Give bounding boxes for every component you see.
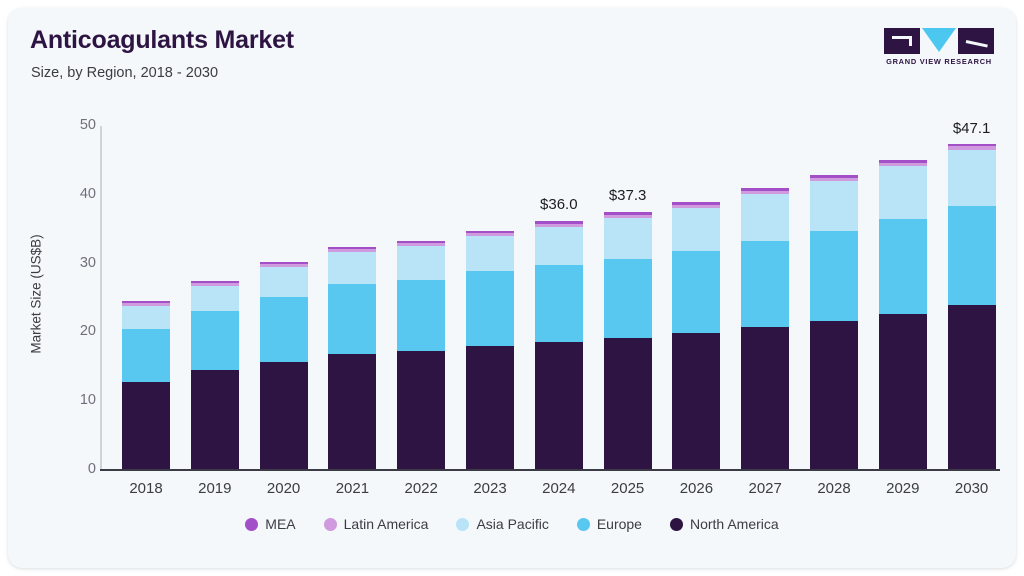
legend-item[interactable]: North America: [670, 516, 779, 532]
bar-stack: [948, 144, 996, 469]
x-axis-tick-label: 2024: [535, 480, 583, 497]
bar-segment[interactable]: [604, 338, 652, 469]
gvr-logo-icon: [884, 28, 994, 54]
page-title: Anticoagulants Market: [30, 26, 294, 55]
x-axis-tick-label: 2018: [122, 480, 170, 497]
logo-triangle-icon: [922, 28, 956, 52]
y-axis-line: [100, 126, 102, 470]
legend-label: MEA: [265, 516, 295, 532]
bar-segment[interactable]: [535, 342, 583, 469]
legend-label: Asia Pacific: [476, 516, 548, 532]
legend-color-swatch: [324, 518, 337, 531]
bar-stack: [191, 281, 239, 469]
legend-item[interactable]: Asia Pacific: [456, 516, 548, 532]
legend-label: Latin America: [344, 516, 429, 532]
bar-stack: [672, 202, 720, 469]
bar-group[interactable]: [810, 175, 858, 469]
bar-segment[interactable]: [122, 306, 170, 329]
bar-segment[interactable]: [810, 321, 858, 469]
x-axis-tick-label: 2022: [397, 480, 445, 497]
chart-card: Anticoagulants Market Size, by Region, 2…: [8, 8, 1016, 568]
bar-segment[interactable]: [810, 181, 858, 231]
bar-group[interactable]: [397, 241, 445, 469]
y-axis-tick-label: 10: [56, 392, 96, 408]
bar-stack: [810, 175, 858, 469]
bar-value-label: $37.3: [609, 187, 647, 204]
bar-segment[interactable]: [879, 219, 927, 313]
bar-segment[interactable]: [260, 362, 308, 469]
logo-right-block: [958, 28, 994, 54]
bar-segment[interactable]: [879, 314, 927, 469]
logo-left-block: [884, 28, 920, 54]
bar-stack: [535, 221, 583, 469]
bar-segment[interactable]: [604, 218, 652, 259]
bar-segment[interactable]: [535, 227, 583, 266]
bar-segment[interactable]: [535, 265, 583, 341]
x-axis-tick-label: 2030: [948, 480, 996, 497]
legend-item[interactable]: MEA: [245, 516, 295, 532]
bar-segment[interactable]: [948, 305, 996, 469]
x-axis-tick-label: 2023: [466, 480, 514, 497]
bar-stack: [397, 241, 445, 469]
bar-segment[interactable]: [879, 166, 927, 219]
bar-group[interactable]: [328, 247, 376, 469]
bar-stack: [879, 160, 927, 469]
bar-group[interactable]: [466, 231, 514, 469]
bar-segment[interactable]: [191, 311, 239, 370]
x-axis-line: [100, 469, 1000, 471]
y-axis-tick-label: 50: [56, 117, 96, 133]
bar-segment[interactable]: [328, 284, 376, 354]
legend-label: North America: [690, 516, 779, 532]
bar-segment[interactable]: [122, 382, 170, 469]
bar-segment[interactable]: [328, 252, 376, 284]
bar-segment[interactable]: [191, 370, 239, 469]
page-subtitle: Size, by Region, 2018 - 2030: [31, 65, 218, 81]
legend-label: Europe: [597, 516, 642, 532]
bar-group[interactable]: [879, 160, 927, 469]
bar-group[interactable]: [741, 188, 789, 469]
bar-segment[interactable]: [672, 208, 720, 251]
bar-stack: [741, 188, 789, 469]
x-axis-tick-label: 2021: [328, 480, 376, 497]
bar-segment[interactable]: [328, 354, 376, 469]
bar-group[interactable]: $36.0: [535, 221, 583, 469]
bar-segment[interactable]: [122, 329, 170, 382]
logo-notch-b: [909, 36, 912, 46]
legend-color-swatch: [456, 518, 469, 531]
bar-group[interactable]: $47.1: [948, 144, 996, 469]
bar-segment[interactable]: [741, 194, 789, 241]
bar-group[interactable]: [122, 301, 170, 469]
y-axis-title: Market Size (US$B): [29, 234, 44, 353]
bar-segment[interactable]: [810, 231, 858, 321]
bar-segment[interactable]: [741, 241, 789, 327]
bar-stack: [466, 231, 514, 469]
x-axis-tick-label: 2026: [672, 480, 720, 497]
legend-item[interactable]: Europe: [577, 516, 642, 532]
x-axis-tick-label: 2019: [191, 480, 239, 497]
bar-segment[interactable]: [466, 346, 514, 469]
x-axis-tick-label: 2029: [879, 480, 927, 497]
bar-group[interactable]: [672, 202, 720, 469]
bar-segment[interactable]: [466, 271, 514, 346]
y-axis-tick-label: 40: [56, 186, 96, 202]
bar-segment[interactable]: [948, 150, 996, 206]
y-axis-tick-label: 0: [56, 461, 96, 477]
legend-item[interactable]: Latin America: [324, 516, 429, 532]
chart-legend: MEALatin AmericaAsia PacificEuropeNorth …: [8, 516, 1016, 532]
bar-segment[interactable]: [260, 267, 308, 297]
bar-stack: [604, 212, 652, 469]
bar-segment[interactable]: [741, 327, 789, 469]
bar-group[interactable]: $37.3: [604, 212, 652, 469]
bar-segment[interactable]: [466, 236, 514, 271]
legend-color-swatch: [577, 518, 590, 531]
bar-segment[interactable]: [397, 280, 445, 351]
bar-segment[interactable]: [260, 297, 308, 362]
y-axis-tick-label: 30: [56, 255, 96, 271]
bar-value-label: $36.0: [540, 196, 578, 213]
bar-group[interactable]: [260, 262, 308, 469]
stacked-bar-chart: Market Size (US$B) 01020304050 $36.0$37.…: [100, 118, 1000, 470]
y-axis-tick-label: 20: [56, 323, 96, 339]
bar-group[interactable]: [191, 281, 239, 469]
bar-segment[interactable]: [397, 246, 445, 280]
legend-color-swatch: [245, 518, 258, 531]
bar-stack: [122, 301, 170, 469]
x-axis-tick-label: 2028: [810, 480, 858, 497]
bar-segment[interactable]: [672, 251, 720, 333]
brand-logo: GRAND VIEW RESEARCH: [884, 28, 994, 70]
x-axis-tick-label: 2020: [260, 480, 308, 497]
bar-segment[interactable]: [672, 333, 720, 469]
x-axis-tick-label: 2025: [604, 480, 652, 497]
bar-value-label: $47.1: [953, 120, 991, 137]
bar-stack: [260, 262, 308, 469]
x-axis-tick-label: 2027: [741, 480, 789, 497]
legend-color-swatch: [670, 518, 683, 531]
bar-stack: [328, 247, 376, 469]
logo-wordmark: GRAND VIEW RESEARCH: [884, 57, 994, 66]
bar-segment[interactable]: [604, 259, 652, 337]
bar-segment[interactable]: [191, 286, 239, 311]
bar-segment[interactable]: [397, 351, 445, 469]
bar-segment[interactable]: [948, 206, 996, 305]
